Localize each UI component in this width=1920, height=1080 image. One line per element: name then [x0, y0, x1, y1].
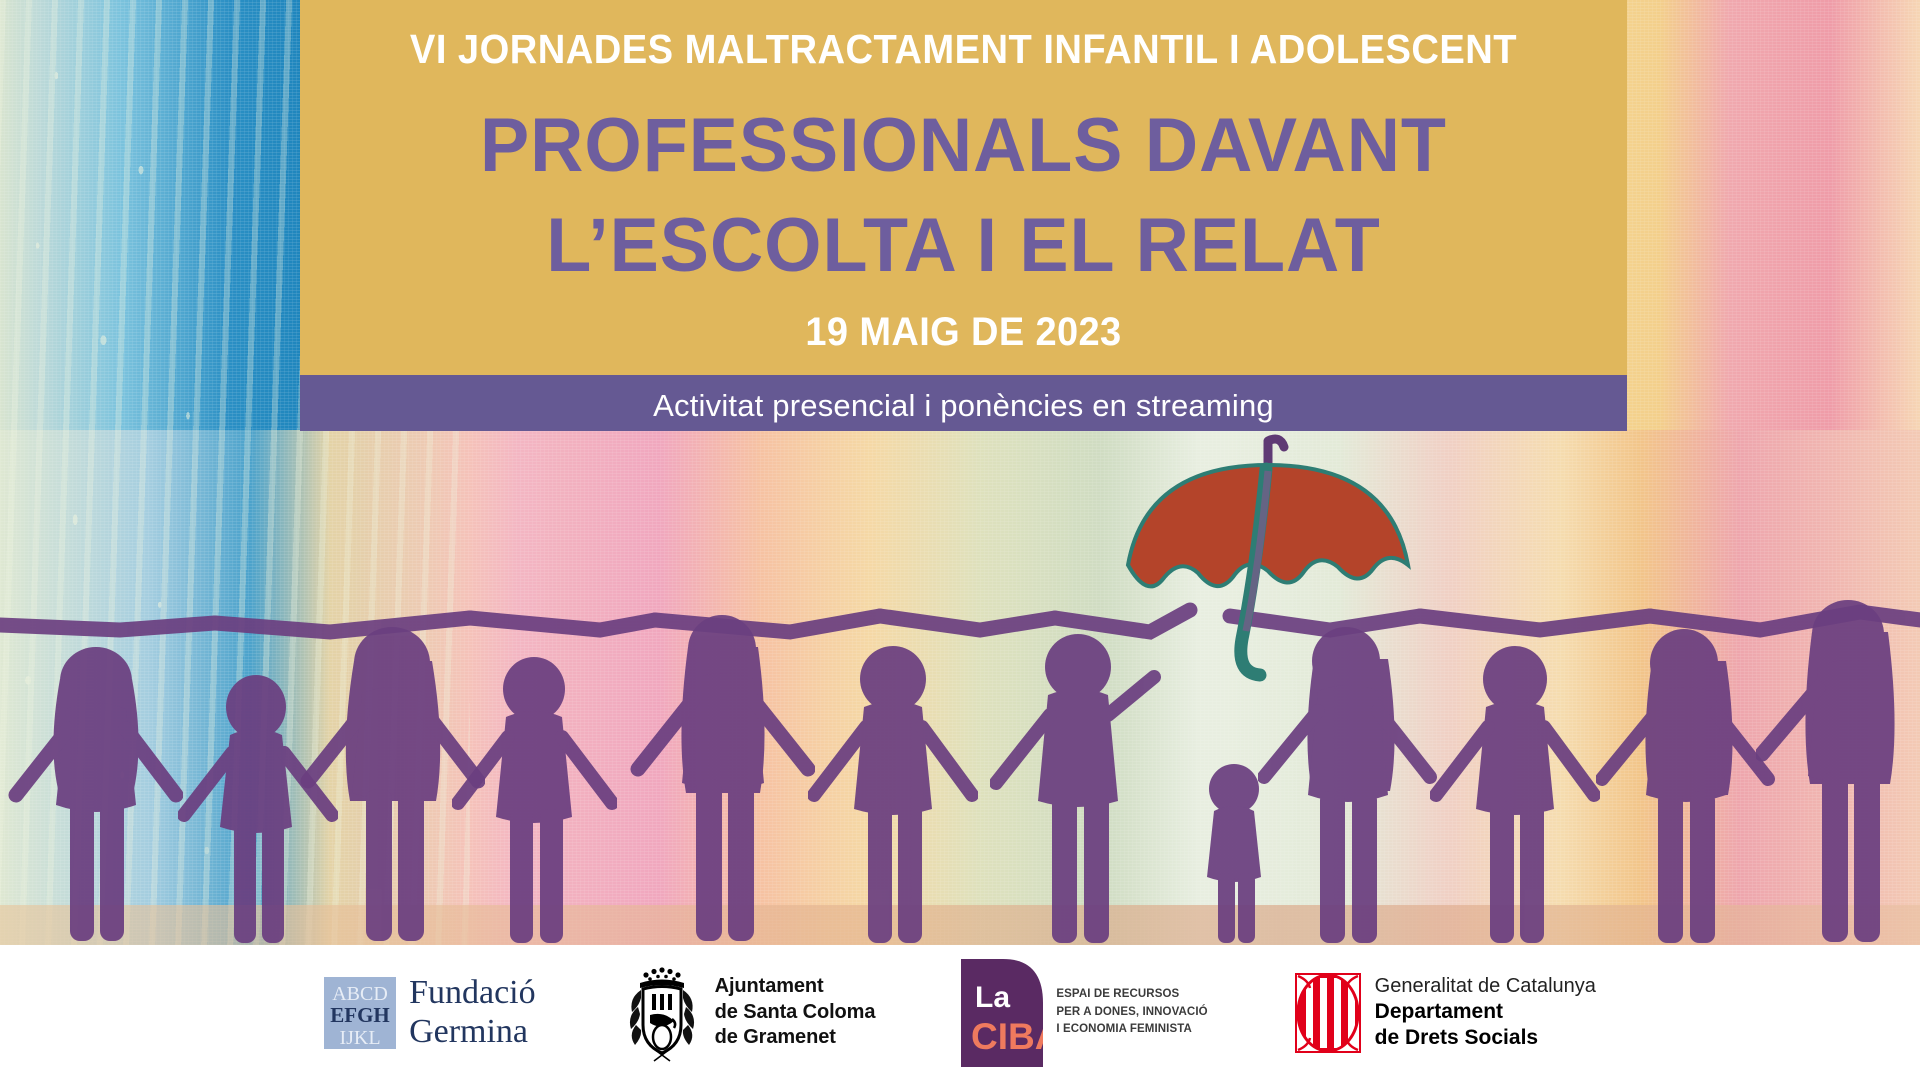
logo-fundacio-germina: ABCD EFGH IJKL Fundació Germina [324, 974, 536, 1052]
page-title-line1: PROFESSIONALS DAVANT [320, 108, 1607, 184]
figure-person [1596, 627, 1776, 945]
santa-coloma-crest-icon [622, 963, 702, 1063]
figure-person [990, 633, 1170, 945]
sponsor-logo-bar: ABCD EFGH IJKL Fundació Germina [0, 945, 1920, 1080]
event-date: 19 MAIG DE 2023 [333, 310, 1594, 355]
ciba-mark-icon: La CIBA [961, 959, 1043, 1067]
generalitat-line3: de Drets Socials [1375, 1025, 1596, 1051]
generalitat-shield-icon [1294, 972, 1362, 1054]
event-kicker: VI JORNADES MALTRACTAMENT INFANTIL I ADO… [346, 26, 1580, 73]
ajuntament-line1: Ajuntament [715, 974, 876, 1000]
ciba-line1: ESPAI DE RECURSOS [1056, 986, 1207, 1004]
figure-person [1756, 600, 1920, 945]
ajuntament-line2: de Santa Coloma [715, 1000, 876, 1026]
figure-person [8, 645, 183, 945]
figure-person [1258, 625, 1438, 945]
figure-person [1430, 645, 1600, 945]
svg-text:ABCD: ABCD [332, 983, 388, 1005]
svg-text:La: La [975, 981, 1010, 1014]
page-title-line2: L’ESCOLTA I EL RELAT [320, 208, 1607, 284]
logo-generalitat-catalunya: Generalitat de Catalunya Departament de … [1294, 972, 1596, 1054]
generalitat-line1: Generalitat de Catalunya [1375, 974, 1596, 999]
ciba-line2: PER A DONES, INNOVACIÓ [1056, 1004, 1207, 1022]
germina-line2: Germina [409, 1013, 536, 1052]
poster: VI JORNADES MALTRACTAMENT INFANTIL I ADO… [0, 0, 1920, 1080]
figure-row [0, 440, 1920, 945]
svg-text:IJKL: IJKL [340, 1027, 381, 1049]
germina-mark-icon: ABCD EFGH IJKL [324, 977, 396, 1049]
germina-line1: Fundació [409, 974, 536, 1013]
ciba-line3: I ECONOMIA FEMINISTA [1056, 1021, 1207, 1039]
ajuntament-line3: de Gramenet [715, 1025, 876, 1051]
figure-person [630, 615, 815, 945]
svg-text:CIBA: CIBA [971, 1016, 1043, 1057]
event-subtitle: Activitat presencial i ponències en stre… [300, 388, 1627, 424]
svg-text:EFGH: EFGH [330, 1003, 390, 1027]
generalitat-line2: Departament [1375, 999, 1596, 1025]
logo-la-ciba: La CIBA ESPAI DE RECURSOS PER A DONES, I… [961, 959, 1207, 1067]
figure-person [808, 645, 978, 945]
logo-ajuntament-santa-coloma: Ajuntament de Santa Coloma de Gramenet [622, 963, 876, 1063]
figure-person [452, 657, 617, 945]
